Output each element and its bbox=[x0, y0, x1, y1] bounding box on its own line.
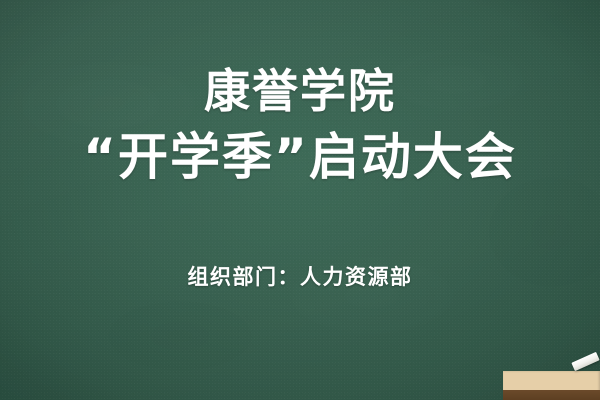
presentation-slide: 康誉学院 “开学季”启动大会 组织部门：人力资源部 bbox=[0, 0, 600, 400]
slide-title-line-2: “开学季”启动大会 bbox=[83, 132, 517, 182]
chalk-ledge bbox=[503, 371, 600, 392]
slide-title-line-1: 康誉学院 bbox=[204, 68, 396, 114]
slide-content: 康誉学院 “开学季”启动大会 组织部门：人力资源部 bbox=[0, 0, 600, 400]
chalk-ledge-base bbox=[503, 390, 600, 400]
slide-subtitle: 组织部门：人力资源部 bbox=[188, 261, 413, 291]
